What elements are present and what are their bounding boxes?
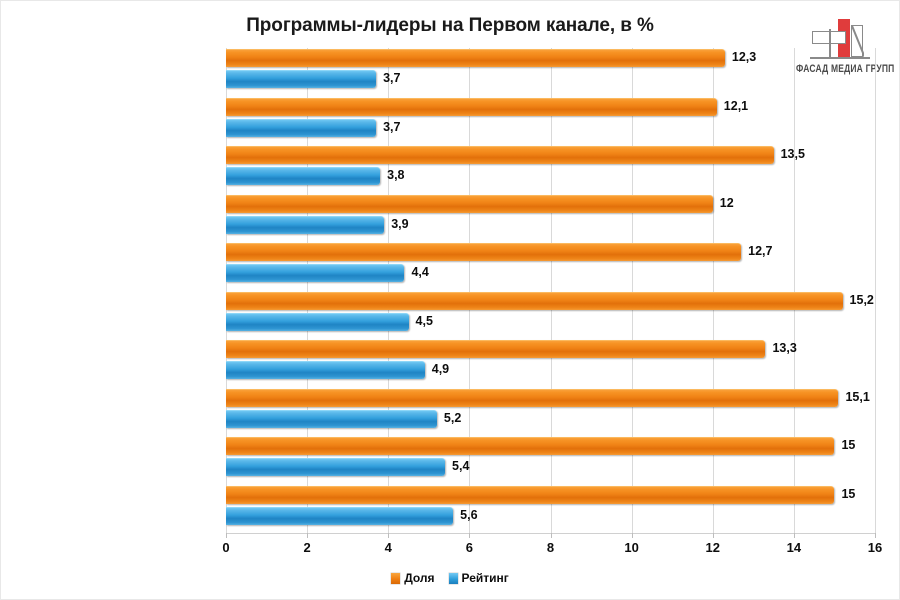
- bar-value-label: 3,9: [391, 217, 408, 231]
- bar-dolya: [226, 195, 713, 213]
- x-axis-tick: [713, 533, 714, 538]
- legend-swatch-icon: [391, 573, 400, 584]
- bar-dolya: [226, 49, 725, 67]
- bar-reiting: [226, 361, 425, 379]
- x-axis-tick: [307, 533, 308, 538]
- logo-base-line: [810, 57, 870, 59]
- gridline: [713, 48, 714, 533]
- x-axis-tick-label: 10: [612, 540, 652, 555]
- bar-reiting: [226, 313, 409, 331]
- bar-value-label: 5,6: [460, 508, 477, 522]
- x-axis-tick: [632, 533, 633, 538]
- bar-reiting: [226, 216, 384, 234]
- bar-value-label: 3,7: [383, 71, 400, 85]
- logo-diagonal-shape: [851, 25, 864, 57]
- bar-value-label: 15,1: [845, 390, 869, 404]
- gridline: [794, 48, 795, 533]
- bar-reiting: [226, 458, 445, 476]
- bar-reiting: [226, 70, 376, 88]
- x-axis-tick: [875, 533, 876, 538]
- bar-value-label: 5,2: [444, 411, 461, 425]
- gridline: [875, 48, 876, 533]
- x-axis-tick-label: 8: [531, 540, 571, 555]
- page-title: Программы-лидеры на Первом канале, в %: [1, 15, 899, 37]
- chart-figure: Программы-лидеры на Первом канале, в % Ф…: [0, 0, 900, 600]
- gridline: [551, 48, 552, 533]
- gridline: [632, 48, 633, 533]
- x-axis-tick-label: 12: [693, 540, 733, 555]
- x-axis-tick: [469, 533, 470, 538]
- x-axis-tick-label: 14: [774, 540, 814, 555]
- legend-item[interactable]: Доля: [391, 571, 434, 585]
- bar-reiting: [226, 264, 404, 282]
- bar-dolya: [226, 486, 834, 504]
- logo-sign-divider: [829, 31, 831, 44]
- bar-reiting: [226, 410, 437, 428]
- x-axis-tick-label: 6: [449, 540, 489, 555]
- bar-value-label: 15,2: [850, 293, 874, 307]
- bar-value-label: 12,7: [748, 244, 772, 258]
- legend-item[interactable]: Рейтинг: [449, 571, 509, 585]
- bar-value-label: 12,1: [724, 99, 748, 113]
- x-axis-tick: [388, 533, 389, 538]
- bar-dolya: [226, 437, 834, 455]
- bar-value-label: 13,3: [772, 341, 796, 355]
- bar-dolya: [226, 146, 774, 164]
- bar-dolya: [226, 292, 843, 310]
- bar-dolya: [226, 243, 741, 261]
- x-axis-tick: [551, 533, 552, 538]
- bar-value-label: 4,4: [411, 265, 428, 279]
- bar-dolya: [226, 98, 717, 116]
- bar-value-label: 15: [841, 487, 855, 501]
- x-axis-tick: [794, 533, 795, 538]
- bar-reiting: [226, 119, 376, 137]
- bar-value-label: 12,3: [732, 50, 756, 64]
- legend-label: Рейтинг: [462, 571, 509, 585]
- bar-value-label: 5,4: [452, 459, 469, 473]
- bar-value-label: 3,8: [387, 168, 404, 182]
- bar-dolya: [226, 340, 765, 358]
- bar-value-label: 3,7: [383, 120, 400, 134]
- bar-value-label: 12: [720, 196, 734, 210]
- bar-value-label: 13,5: [781, 147, 805, 161]
- x-axis-tick-label: 0: [206, 540, 246, 555]
- bar-value-label: 15: [841, 438, 855, 452]
- chart-legend: ДоляРейтинг: [1, 571, 899, 585]
- legend-label: Доля: [404, 571, 434, 585]
- x-axis-tick-label: 16: [855, 540, 895, 555]
- x-axis-tick-label: 4: [368, 540, 408, 555]
- legend-swatch-icon: [449, 573, 458, 584]
- bar-reiting: [226, 167, 380, 185]
- bar-value-label: 4,5: [416, 314, 433, 328]
- bar-dolya: [226, 389, 838, 407]
- bar-reiting: [226, 507, 453, 525]
- x-axis-tick-label: 2: [287, 540, 327, 555]
- bar-value-label: 4,9: [432, 362, 449, 376]
- x-axis-tick: [226, 533, 227, 538]
- gridline: [469, 48, 470, 533]
